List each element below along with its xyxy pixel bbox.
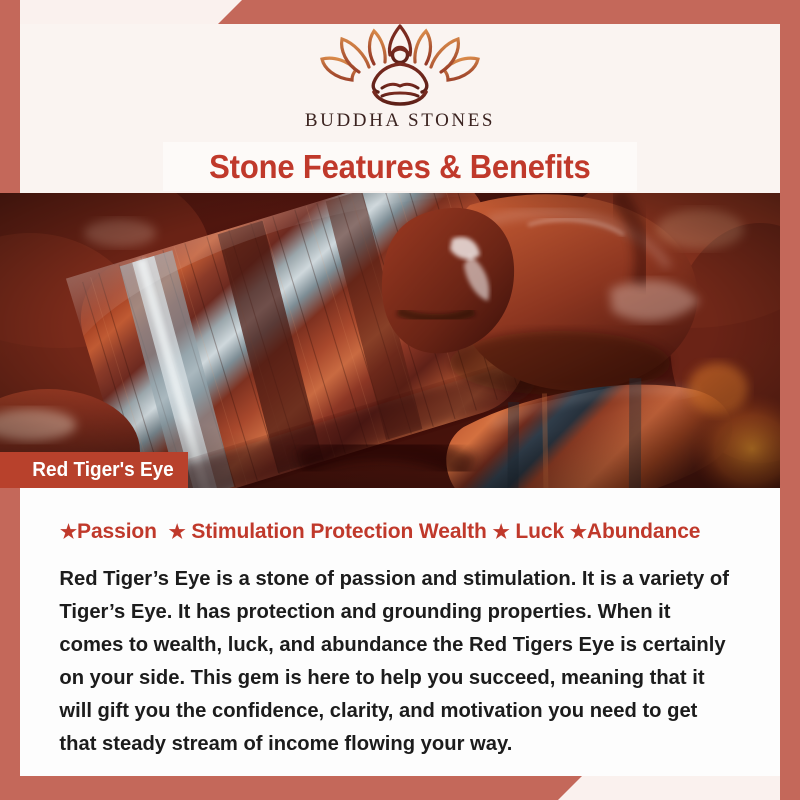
title-banner: Stone Features & Benefits (163, 142, 637, 191)
benefit-label-luck: Luck (515, 520, 564, 543)
stone-infographic: BUDDHA STONES Stone Features & Benefits (0, 0, 800, 800)
stone-description: Red Tiger’s Eye is a stone of passion an… (20, 562, 769, 760)
frame-band-top (218, 0, 800, 24)
star-icon-luck: ★ (493, 522, 510, 543)
star-icon-passion: ★ (60, 522, 77, 543)
brand-logo: BUDDHA STONES (0, 22, 800, 132)
benefit-label-abundance: Abundance (587, 520, 700, 543)
page-title: Stone Features & Benefits (209, 148, 590, 186)
content-panel: ★Passion ★ Stimulation Protection Wealth… (20, 488, 780, 776)
stone-name: Red Tiger's Eye (0, 459, 174, 482)
benefits-list: ★Passion ★ Stimulation Protection Wealth… (20, 520, 780, 544)
benefit-label-stimulation: Stimulation Protection Wealth (191, 520, 486, 543)
benefit-label-passion: Passion (77, 520, 157, 543)
star-icon-abundance: ★ (570, 522, 587, 543)
star-icon-stimulation: ★ (169, 522, 186, 543)
stone-photo (0, 193, 780, 488)
lotus-meditation-figure-icon (312, 22, 488, 108)
stone-photo-illustration (0, 193, 780, 488)
frame-band-bottom (0, 776, 582, 800)
stone-name-banner: Red Tiger's Eye (0, 452, 188, 488)
brand-name: BUDDHA STONES (305, 110, 495, 132)
